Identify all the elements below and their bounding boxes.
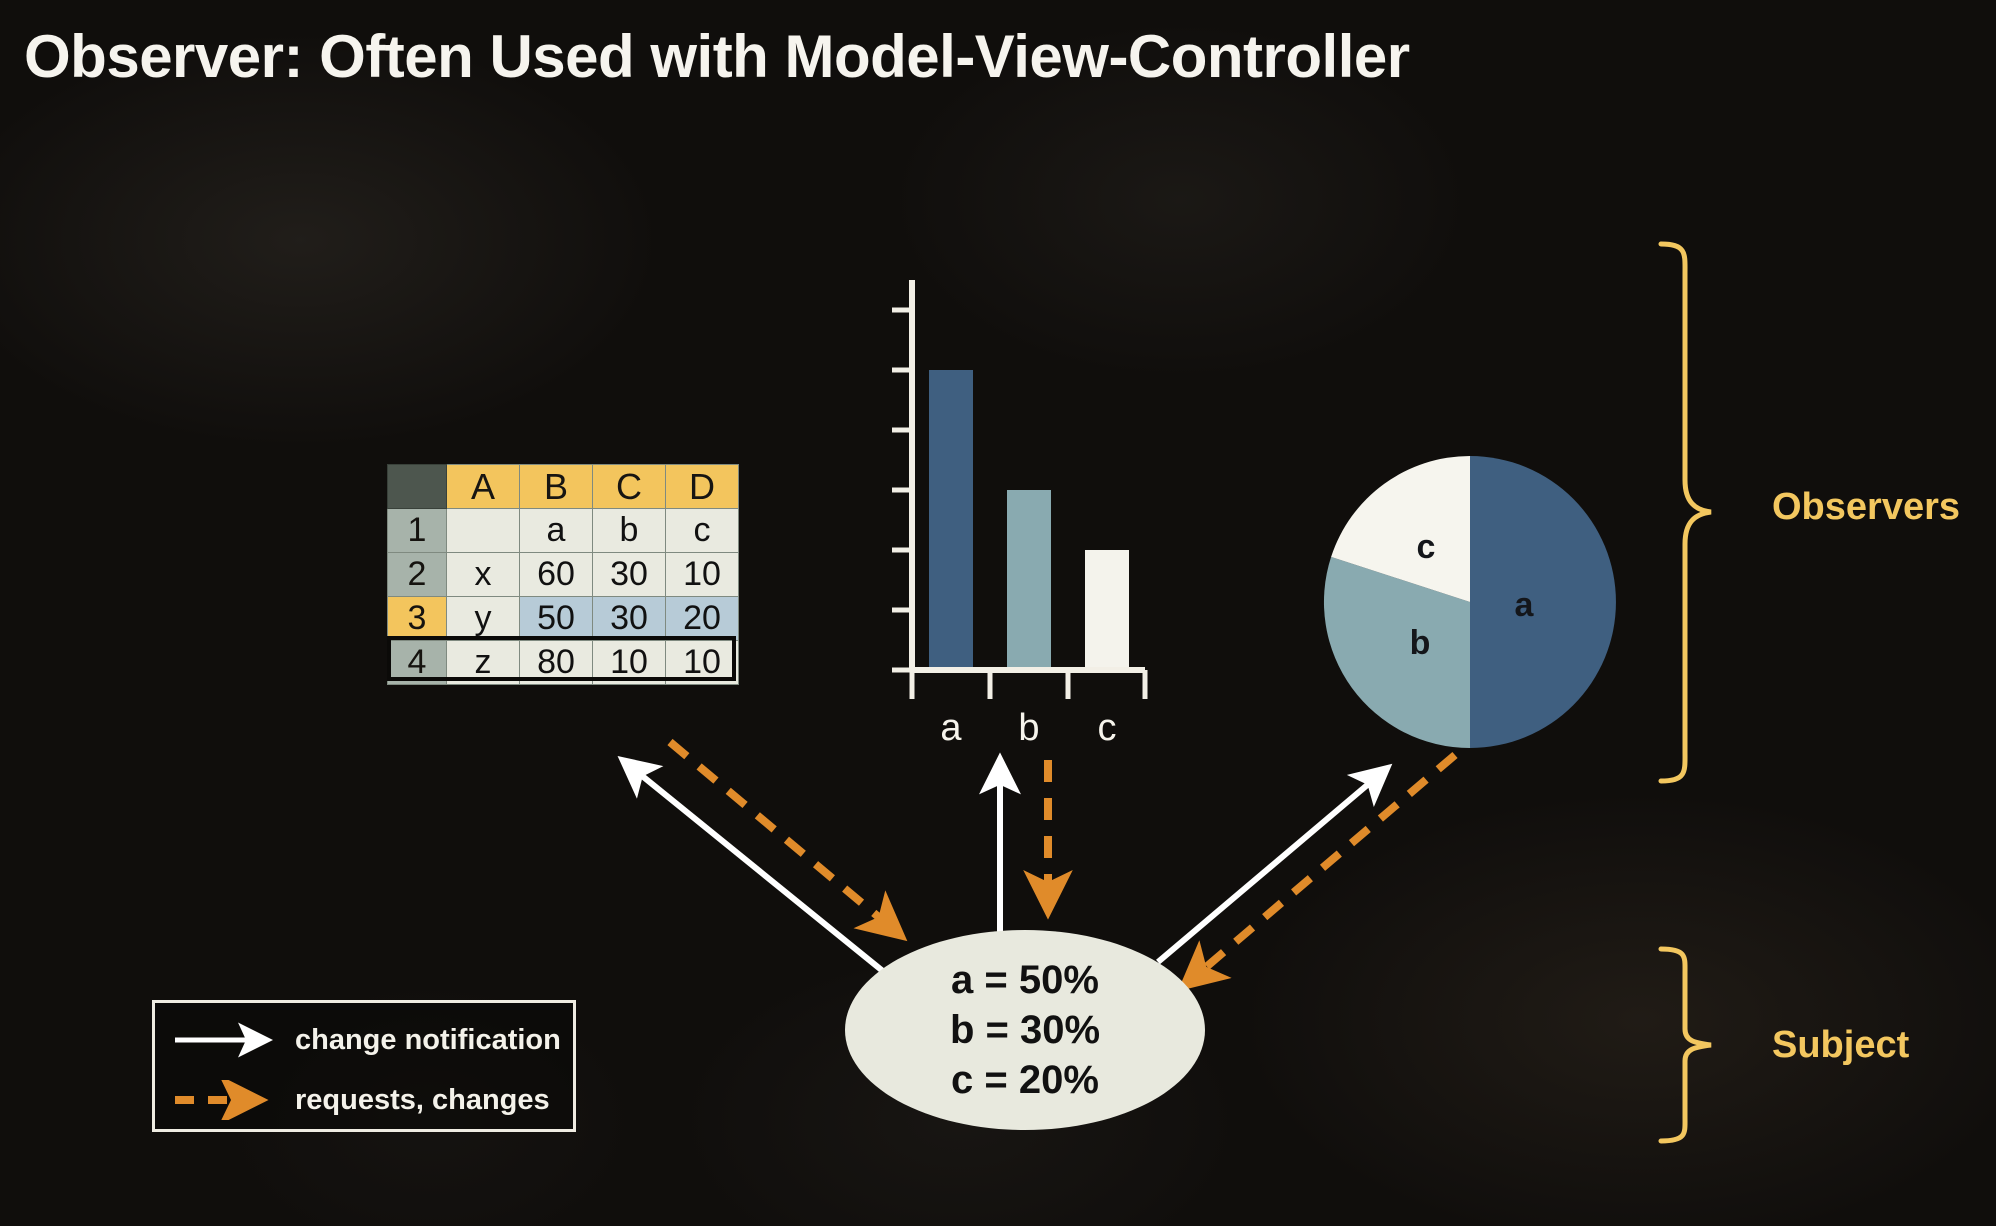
row-header-3[interactable]: 3 [388, 597, 447, 641]
table-row-selected: 3 y 50 30 20 [388, 597, 739, 641]
solid-arrow-icon [169, 1020, 287, 1060]
row-header-2[interactable]: 2 [388, 553, 447, 597]
x-tick-label-c: c [1098, 707, 1117, 749]
notification-arrow-to-piechart [1158, 770, 1385, 962]
column-header-b[interactable]: B [520, 465, 593, 509]
subject-node[interactable]: a = 50% b = 30% c = 20% [845, 930, 1205, 1130]
cell-b1[interactable]: a [520, 509, 593, 553]
cell-c2[interactable]: 30 [593, 553, 666, 597]
bar-chart-view[interactable]: a b c [855, 262, 1185, 762]
subject-line-b: b = 30% [950, 1005, 1100, 1055]
request-arrow-to-subject-right [1185, 755, 1455, 985]
pie-slice-a[interactable] [1470, 456, 1616, 748]
legend-label-notification: change notification [295, 1024, 561, 1057]
subject-brace-icon [1655, 945, 1715, 1145]
cell-a1[interactable] [447, 509, 520, 553]
notification-arrow-to-table [625, 762, 900, 985]
cell-c4[interactable]: 10 [593, 641, 666, 685]
x-tick-label-b: b [1018, 707, 1039, 749]
subject-line-a: a = 50% [951, 955, 1099, 1005]
table-row: 1 a b c [388, 509, 739, 553]
dashed-arrow-icon [169, 1080, 287, 1120]
cell-b3[interactable]: 50 [520, 597, 593, 641]
pie-label-a: a [1515, 586, 1535, 624]
bar-a[interactable] [929, 370, 973, 670]
cell-d2[interactable]: 10 [666, 553, 739, 597]
pie-label-c: c [1417, 528, 1436, 566]
legend-label-request: requests, changes [295, 1084, 550, 1117]
legend-item-notification: change notification [155, 1009, 573, 1071]
bar-b[interactable] [1007, 490, 1051, 670]
cell-d1[interactable]: c [666, 509, 739, 553]
cell-d3[interactable]: 20 [666, 597, 739, 641]
table-header-row: A B C D [388, 465, 739, 509]
cell-a2[interactable]: x [447, 553, 520, 597]
legend-item-request: requests, changes [155, 1069, 573, 1131]
pie-chart-view[interactable]: a b c [1322, 452, 1618, 752]
column-header-a[interactable]: A [447, 465, 520, 509]
column-header-d[interactable]: D [666, 465, 739, 509]
table-corner-cell[interactable] [388, 465, 447, 509]
cell-b2[interactable]: 60 [520, 553, 593, 597]
page-title: Observer: Often Used with Model-View-Con… [24, 22, 1410, 91]
column-header-c[interactable]: C [593, 465, 666, 509]
bar-c[interactable] [1085, 550, 1129, 670]
cell-c3[interactable]: 30 [593, 597, 666, 641]
pie-label-b: b [1410, 624, 1431, 662]
table-row: 4 z 80 10 10 [388, 641, 739, 685]
cell-d4[interactable]: 10 [666, 641, 739, 685]
spreadsheet-view[interactable]: A B C D 1 a b c 2 x 60 30 10 3 y 50 30 2… [387, 464, 739, 685]
subject-line-c: c = 20% [951, 1055, 1099, 1105]
legend-box: change notification requests, changes [152, 1000, 576, 1132]
table-row: 2 x 60 30 10 [388, 553, 739, 597]
cell-c1[interactable]: b [593, 509, 666, 553]
row-header-4[interactable]: 4 [388, 641, 447, 685]
cell-a3[interactable]: y [447, 597, 520, 641]
slide-canvas: Observer: Often Used with Model-View-Con… [0, 0, 1996, 1226]
cell-a4[interactable]: z [447, 641, 520, 685]
request-arrow-to-subject-left [670, 742, 900, 935]
subject-label: Subject [1772, 1024, 1909, 1067]
observers-label: Observers [1772, 486, 1960, 529]
x-tick-label-a: a [940, 707, 962, 749]
row-header-1[interactable]: 1 [388, 509, 447, 553]
observers-brace-icon [1655, 240, 1715, 785]
cell-b4[interactable]: 80 [520, 641, 593, 685]
